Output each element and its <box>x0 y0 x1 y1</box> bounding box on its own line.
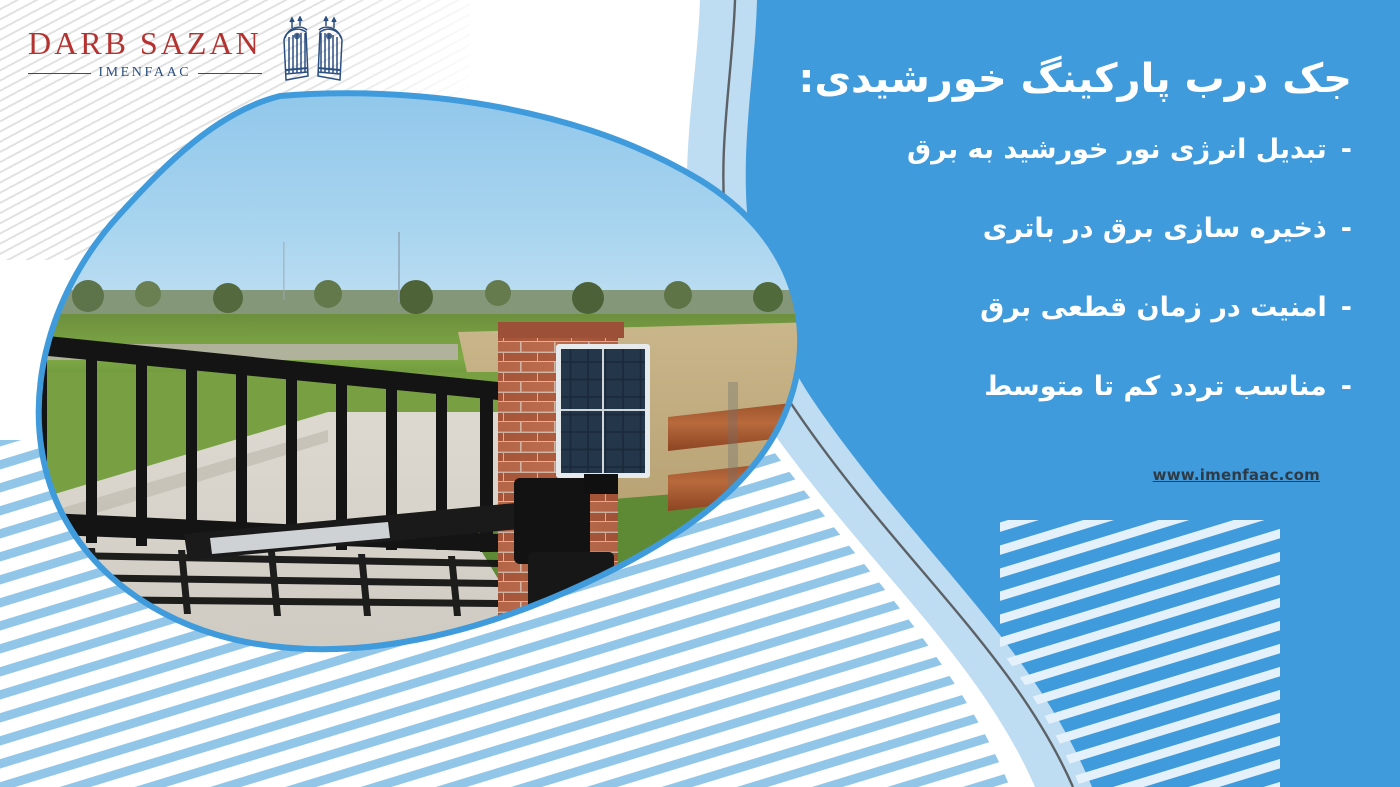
shrubs <box>508 628 662 662</box>
list-item: - امنیت در زمان قطعی برق <box>732 290 1352 325</box>
product-photo <box>28 82 818 662</box>
list-item-label: ذخیره سازی برق در باتری <box>983 211 1327 246</box>
double-gate-icon <box>276 16 350 92</box>
battery-box <box>628 582 738 662</box>
feature-list: - تبدیل انرژی نور خورشید به برق - ذخیره … <box>732 132 1352 404</box>
brand-logo[interactable]: DARB SAZAN IMENFAAC <box>28 16 350 92</box>
list-item: - تبدیل انرژی نور خورشید به برق <box>732 132 1352 167</box>
brand-subtitle: IMENFAAC <box>98 65 191 81</box>
page-title: جک درب پارکینگ خورشیدی: <box>732 52 1352 106</box>
bullet-marker: - <box>1341 369 1352 404</box>
list-item-label: امنیت در زمان قطعی برق <box>980 290 1327 325</box>
bullet-marker: - <box>1341 132 1352 167</box>
solar-panel <box>556 344 650 494</box>
website-link[interactable]: www.imenfaac.com <box>1153 466 1320 484</box>
bullet-marker: - <box>1341 290 1352 325</box>
brand-name: DARB SAZAN <box>28 27 262 59</box>
logo-rule-left <box>28 73 91 74</box>
list-item-label: تبدیل انرژی نور خورشید به برق <box>907 132 1327 167</box>
list-item-label: مناسب تردد کم تا متوسط <box>984 369 1327 404</box>
list-item: - ذخیره سازی برق در باتری <box>732 211 1352 246</box>
logo-rule-right <box>198 73 261 74</box>
bullet-marker: - <box>1341 211 1352 246</box>
list-item: - مناسب تردد کم تا متوسط <box>732 369 1352 404</box>
feature-panel: جک درب پارکینگ خورشیدی: - تبدیل انرژی نو… <box>732 52 1352 448</box>
promo-banner: DARB SAZAN IMENFAAC جک درب پارکینگ خورشی… <box>0 0 1400 787</box>
